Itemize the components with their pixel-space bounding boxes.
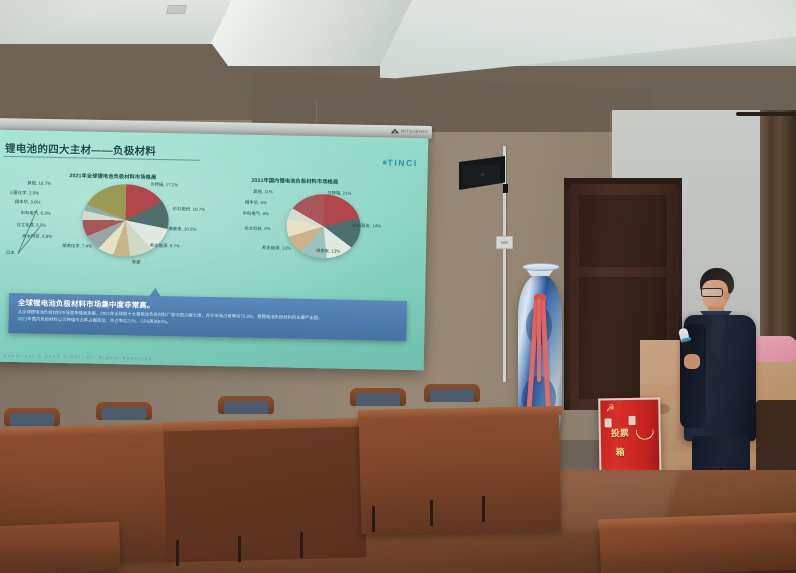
ballot-box-label: 投票箱 (611, 424, 630, 462)
screenshot-root: MITSUBISHI 锂电池的四大主材——负极材料 TINCI 2021年全球锂… (0, 0, 796, 573)
right-pie-label-shangtai: 尚太科技, 9% (244, 226, 270, 232)
chair-back (424, 384, 480, 402)
right-chart-title: 2021年国内锂电池负极材料市场格局 (251, 177, 338, 186)
ballot-box-trim (598, 397, 660, 400)
brace-line (18, 227, 40, 254)
right-pie-label-xiangfenghua: 翔丰华, 5% (245, 200, 267, 206)
presenter-ear (724, 292, 730, 300)
left-pie-label-hitachi: 日立化成, 6.5% (16, 222, 46, 228)
slide-content: 锂电池的四大主材——负极材料 TINCI 2021年全球锂电池负极材料市场格局 … (0, 130, 428, 371)
left-pie-label-btr: 贝特瑞, 17.2% (150, 182, 178, 188)
curtain-rod (736, 112, 796, 116)
tinci-logo-text: TINCI (387, 158, 417, 169)
presenter-hand (684, 354, 700, 369)
left-pie-label-hunan: 湖南化学, 7.4% (62, 243, 92, 249)
projector-brand-label: MITSUBISHI (401, 128, 428, 133)
chair-pad (356, 393, 400, 406)
chair-back (96, 402, 152, 420)
right-pie-label-btr: 贝特瑞, 21% (327, 190, 351, 196)
callout-box: 全球锂电池负极材料市场集中度非常高。 从全球锂电池负极材料市场竞争格局来看，20… (8, 293, 407, 341)
chair-back (218, 396, 274, 414)
left-pie-label-shanshan: 杉杉股份, 10.7% (173, 206, 205, 212)
ballot-box-latch (628, 416, 635, 425)
left-pie-label-putailai: 璞泰来, 10.2% (168, 226, 196, 232)
ceiling-beam (200, 0, 412, 66)
desk-leg (430, 500, 433, 526)
right-pie-label-putailai: 璞泰来, 13% (316, 248, 340, 254)
speaker-led-icon (481, 173, 484, 176)
chair-back (350, 388, 406, 406)
ballot-box-latch (605, 418, 612, 427)
left-pie-label-xiangfenghua: 翔丰华, 3.6% (15, 199, 41, 205)
slide-copyright: Copyright © 2022 TINCI. All Rights Reser… (4, 353, 155, 361)
desk-leg (176, 540, 179, 566)
chair-pad (10, 413, 54, 426)
right-pie-label-kaijin: 凯金能源, 13% (262, 245, 291, 251)
left-pie-label-mitsubishi: 三菱化学, 2.6% (9, 190, 39, 196)
desk-leg (482, 496, 485, 522)
chair-pad (430, 389, 474, 402)
chair-pad (102, 407, 146, 420)
desk-leg (300, 532, 303, 558)
left-pie-brace-japan: 日本 (6, 250, 15, 256)
vase-ribbon (537, 298, 541, 382)
chair-pad (224, 401, 268, 414)
ceiling-right-section (380, 0, 796, 80)
party-emblem-icon: ☭ (603, 403, 617, 415)
projection-screen: 锂电池的四大主材——负极材料 TINCI 2021年全球锂电池负极材料市场格局 … (0, 130, 428, 371)
conference-desk-3 (359, 410, 561, 534)
wall-outlet (496, 236, 513, 249)
right-pie-label-other: 其他, 11% (253, 189, 273, 195)
left-pie-label-kaijin: 凯金能源, 9.7% (150, 243, 180, 249)
door-panel-upper (578, 194, 668, 268)
foreground-desk-left (0, 522, 121, 573)
left-chart-title: 2021年全球锂电池负极材料市场格局 (69, 172, 156, 181)
desk-leg (238, 536, 241, 562)
right-pie-label-shanshan: 杉杉股份, 14% (352, 223, 381, 229)
conference-desk-2 (163, 422, 366, 563)
left-pie-label-other: 其他, 18.7% (27, 180, 51, 186)
vase-rim (522, 263, 560, 271)
speaker-mount (503, 184, 508, 193)
chair-back (4, 408, 60, 426)
ballot-box-handle (636, 430, 654, 440)
desk-leg (372, 506, 375, 532)
glasses-icon (701, 288, 723, 297)
mitsubishi-logo-icon: MITSUBISHI (392, 128, 428, 134)
left-pie-label-shangtai: 尚太科技, 6.8% (22, 233, 52, 239)
right-pie-label-zhongke: 中科电气, 8% (243, 211, 269, 217)
left-chart-source: 来源 (132, 259, 141, 265)
tinci-logo: TINCI (382, 157, 417, 168)
ceiling-vent (166, 5, 187, 14)
outlet-slot-icon (501, 241, 508, 244)
tinci-dot-icon (383, 160, 387, 164)
